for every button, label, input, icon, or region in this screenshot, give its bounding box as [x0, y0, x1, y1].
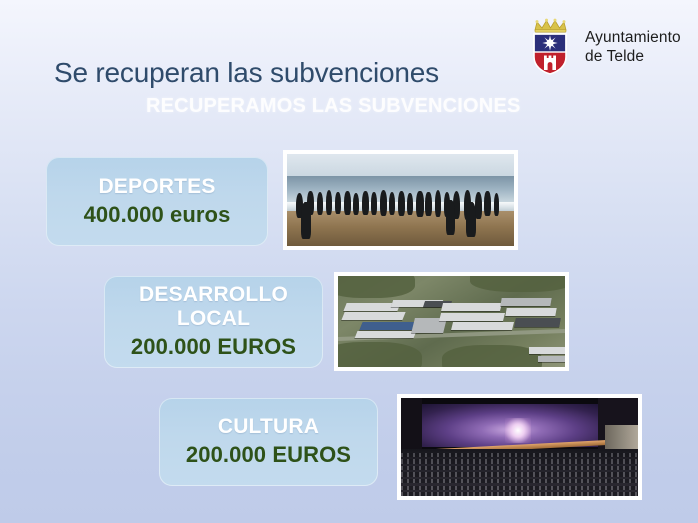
- subsidy-card-cultura: CULTURA 200.000 EUROS: [159, 398, 378, 486]
- telde-coat-of-arms-icon: [524, 17, 576, 75]
- triathlon-beach-start-photo: [283, 150, 518, 250]
- subsidy-card-deportes: DEPORTES 400.000 euros: [46, 157, 268, 246]
- slide-subtitle: RECUPERAMOS LAS SUBVENCIONES: [146, 95, 521, 118]
- theatre-auditorium-photo: [397, 394, 642, 500]
- logo-wordmark: Ayuntamiento de Telde: [585, 25, 681, 66]
- card-category-desarrollo-line2: LOCAL: [177, 307, 250, 331]
- card-category-deportes: DEPORTES: [98, 175, 215, 199]
- subsidy-card-desarrollo-local: DESARROLLO LOCAL 200.000 EUROS: [104, 276, 323, 368]
- ayuntamiento-de-telde-logo: Ayuntamiento de Telde: [524, 16, 694, 76]
- card-amount-deportes: 400.000 euros: [84, 202, 231, 228]
- logo-line-2: de Telde: [585, 48, 681, 67]
- card-category-desarrollo-line1: DESARROLLO: [139, 283, 288, 307]
- card-amount-cultura: 200.000 EUROS: [186, 442, 351, 468]
- slide-title: Se recuperan las subvenciones: [54, 57, 439, 89]
- industrial-estate-aerial-photo: [334, 272, 569, 371]
- slide-canvas: Ayuntamiento de Telde Se recuperan las s…: [0, 0, 698, 523]
- card-category-cultura: CULTURA: [218, 415, 319, 439]
- card-amount-desarrollo: 200.000 EUROS: [131, 334, 296, 360]
- logo-line-1: Ayuntamiento: [585, 29, 681, 48]
